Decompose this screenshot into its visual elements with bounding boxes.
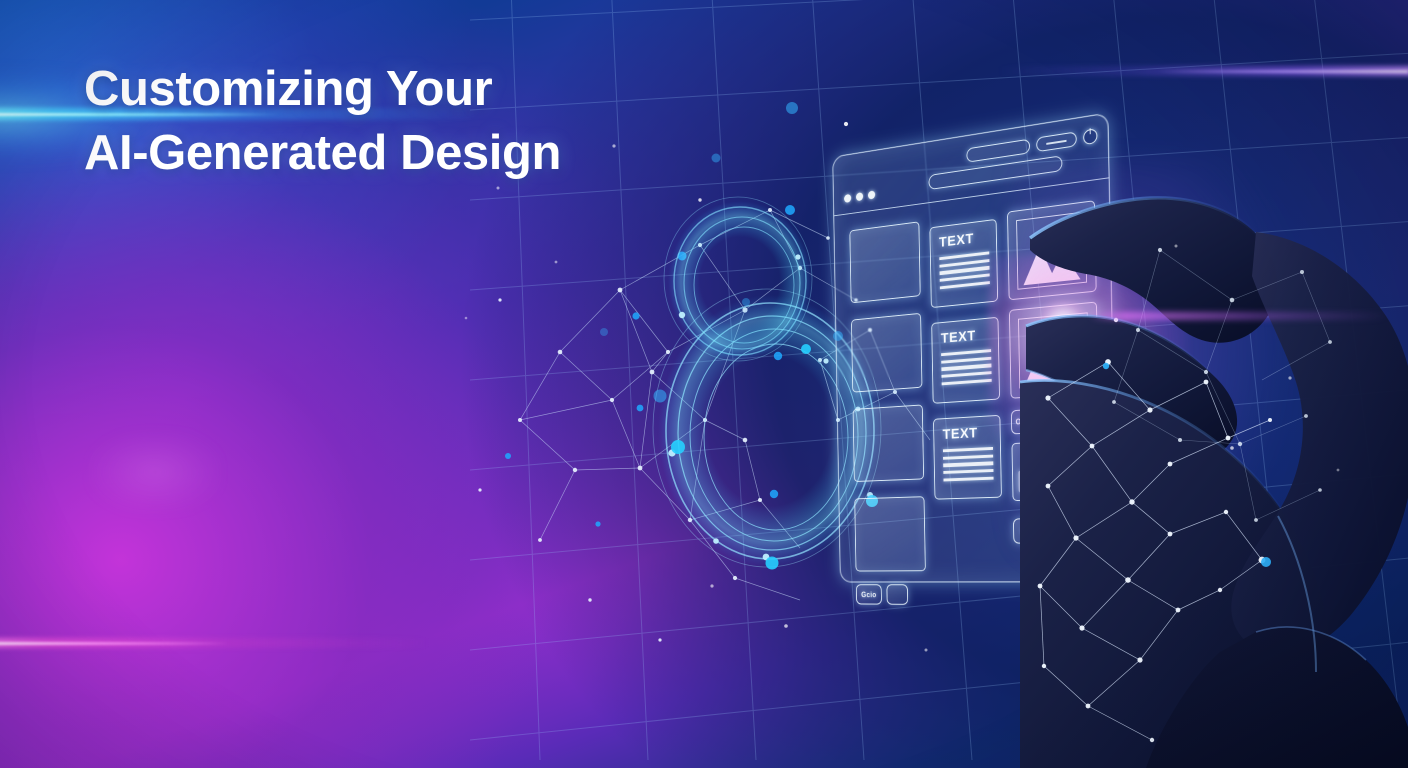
text-card-label: TEXT	[941, 327, 991, 346]
text-card-label: TEXT	[939, 229, 989, 249]
text-card-2[interactable]: TEXT	[931, 317, 1000, 404]
address-row	[966, 128, 1097, 163]
url-field-secondary[interactable]	[1036, 131, 1077, 152]
text-line	[942, 371, 992, 378]
text-line	[941, 364, 991, 371]
text-lines	[941, 349, 992, 385]
glow-blob-left	[90, 432, 220, 512]
browser-content: TEXT TEXT	[843, 188, 1106, 574]
form-field-block	[1018, 470, 1046, 492]
text-line	[941, 349, 991, 356]
button-undo[interactable]: Dnaco	[1013, 518, 1053, 544]
text-line	[943, 454, 993, 459]
text-line	[943, 469, 993, 474]
window-maximize-dot[interactable]	[868, 190, 875, 199]
image-frame	[1018, 312, 1089, 388]
text-line	[943, 476, 993, 481]
image-placeholder-1[interactable]	[1007, 200, 1097, 300]
streak-magenta-left	[0, 638, 430, 648]
image-frame	[1016, 211, 1087, 289]
button-tiny-2[interactable]	[886, 584, 908, 605]
button-tiny-1[interactable]: Gcio	[856, 584, 882, 604]
button-choose[interactable]: Coneos	[1060, 517, 1102, 544]
button-select-label: 6enOa	[1066, 413, 1090, 423]
thumbnail-4[interactable]	[854, 496, 926, 571]
text-card-label: TEXT	[943, 425, 993, 442]
thumbnail-1[interactable]	[849, 221, 920, 303]
image-mountain-icon	[1023, 333, 1084, 385]
streak-violet-right-core	[1158, 70, 1408, 73]
url-field-main[interactable]	[966, 139, 1030, 163]
button-select[interactable]: 6enOa	[1058, 405, 1100, 432]
streak-magenta-left-core	[0, 642, 230, 645]
button-preset[interactable]: Osooast	[1011, 408, 1051, 435]
image-mountain-icon	[1021, 232, 1082, 286]
form-field-block	[1066, 468, 1094, 491]
hero-banner: TEXT TEXT	[0, 0, 1408, 768]
reload-icon[interactable]	[1083, 128, 1097, 145]
button-choose-label: Coneos	[1066, 525, 1095, 534]
text-line	[942, 379, 992, 386]
window-minimize-dot[interactable]	[856, 192, 863, 201]
window-controls[interactable]	[844, 190, 875, 203]
page-title: Customizing Your AI-Generated Design	[84, 58, 561, 185]
text-line	[943, 447, 993, 452]
form-card-1[interactable]	[1011, 441, 1052, 501]
url-field-wide[interactable]	[928, 155, 1062, 190]
text-line	[941, 356, 991, 363]
streak-violet-right	[998, 66, 1408, 76]
form-card-2[interactable]	[1059, 439, 1101, 500]
button-preset-label: Osooast	[1015, 416, 1046, 427]
window-close-dot[interactable]	[844, 194, 851, 203]
text-lines	[943, 447, 994, 481]
thumbnail-2[interactable]	[851, 313, 922, 393]
button-tiny-1-label: Gcio	[861, 590, 876, 598]
image-placeholder-2[interactable]	[1009, 301, 1099, 398]
text-card-1[interactable]: TEXT	[929, 219, 998, 308]
text-line	[943, 462, 993, 467]
streak-violet-hand	[1090, 312, 1390, 320]
text-lines	[939, 251, 990, 289]
thumbnail-3[interactable]	[853, 404, 924, 482]
text-card-3[interactable]: TEXT	[933, 415, 1002, 500]
button-undo-label: Dnaco	[1021, 526, 1045, 535]
text-line	[940, 281, 990, 289]
hologram-browser-window[interactable]: TEXT TEXT	[832, 112, 1117, 582]
